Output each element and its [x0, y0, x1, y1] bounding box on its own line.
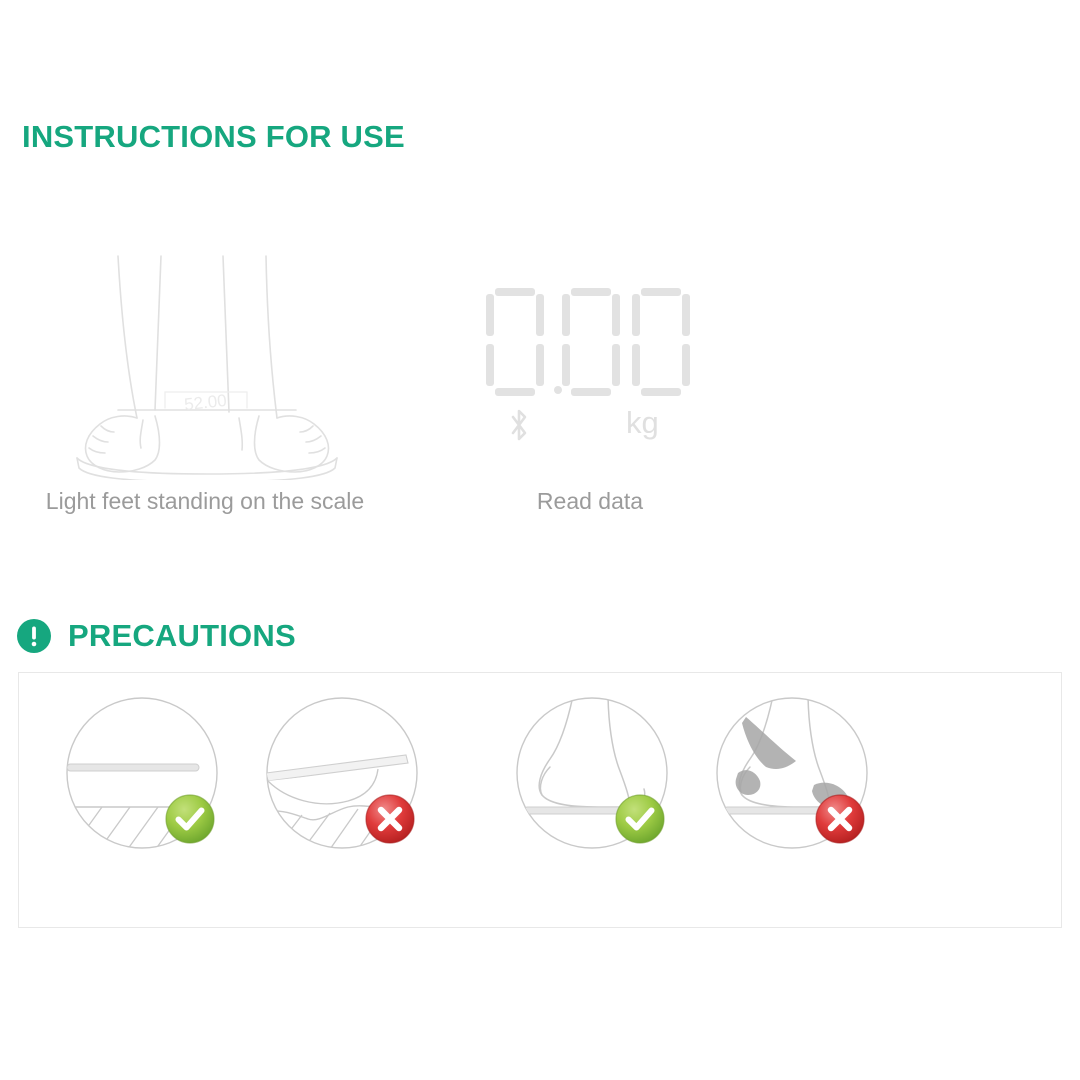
precaution-item — [62, 695, 230, 873]
lcd-digit-2 — [562, 288, 620, 396]
lcd-display-illustration: kg — [400, 240, 780, 480]
precautions-title: PRECAUTIONS — [68, 618, 296, 654]
cross-circle-icon — [364, 793, 416, 850]
instruction-steps: 52.00 Light feet standing on the scale — [0, 240, 1080, 540]
feet-on-scale-illustration: 52.00 — [15, 240, 395, 480]
instruction-step-caption: Read data — [400, 488, 780, 515]
lcd-digit-3 — [632, 288, 690, 396]
lcd-digit-1 — [486, 288, 544, 396]
check-circle-icon — [614, 793, 666, 850]
page-title: INSTRUCTIONS FOR USE — [22, 119, 405, 155]
precautions-header: PRECAUTIONS — [16, 612, 296, 660]
lcd-readout: kg — [486, 288, 696, 448]
precautions-panel — [18, 672, 1062, 928]
instruction-step-read: kg Read data — [400, 240, 780, 540]
precaution-item — [262, 695, 430, 873]
precaution-item — [512, 695, 680, 873]
lcd-unit-label: kg — [626, 406, 659, 440]
cross-circle-icon — [814, 793, 866, 850]
instruction-step-standing: 52.00 Light feet standing on the scale — [15, 240, 395, 540]
lcd-decimal-point — [554, 386, 562, 394]
instruction-step-caption: Light feet standing on the scale — [15, 488, 395, 515]
precaution-item — [712, 695, 880, 873]
bluetooth-icon — [506, 408, 532, 442]
exclamation-circle-icon — [16, 618, 52, 654]
check-circle-icon — [164, 793, 216, 850]
